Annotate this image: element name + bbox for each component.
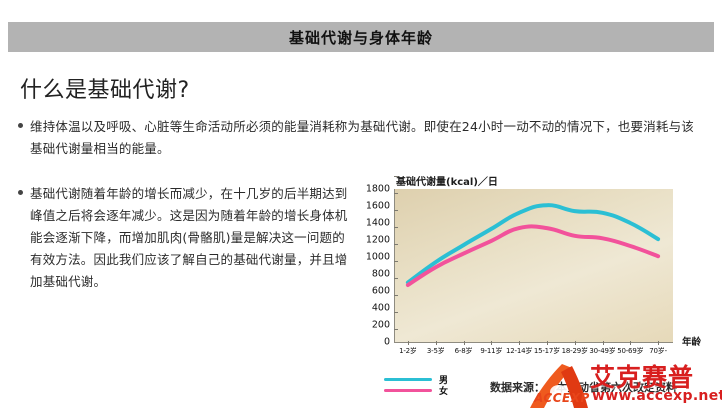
x-tick-mark	[408, 341, 409, 345]
x-tick-mark	[519, 341, 520, 345]
x-tick-mark	[575, 341, 576, 345]
x-tick-mark	[491, 341, 492, 345]
metabolism-chart: 基础代谢量(kcal)／日 02004006008001000120014001…	[352, 170, 722, 413]
y-tick-mark	[394, 227, 398, 228]
x-tick-mark	[547, 341, 548, 345]
x-tick-label: 9-11岁	[480, 346, 502, 356]
legend-swatch	[384, 389, 432, 392]
header-bar: 基础代谢与身体年龄	[8, 22, 714, 52]
legend-label: 女	[439, 384, 448, 397]
bullet-item: 维持体温以及呼吸、心脏等生命活动所必须的能量消耗称为基础代谢。即使在24小时一动…	[18, 116, 708, 160]
x-tick-label: 15-17岁	[534, 346, 560, 356]
y-tick-mark	[394, 261, 398, 262]
y-tick-mark	[394, 295, 398, 296]
x-tick-label: 6-8岁	[455, 346, 473, 356]
y-tick-mark	[394, 329, 398, 330]
legend-swatch	[384, 378, 432, 381]
y-tick-mark	[394, 278, 398, 279]
y-tick-mark	[394, 244, 398, 245]
y-tick-mark	[394, 176, 398, 177]
bullet-dot-icon	[18, 123, 23, 128]
legend-item: 男	[384, 374, 474, 385]
bullet-text: 基础代谢随着年龄的增长而减少，在十几岁的后半期达到峰值之后将会逐年减少。这是因为…	[30, 183, 355, 293]
x-axis: 1-2岁3-5岁6-8岁9-11岁12-14岁15-17岁18-29岁30-49…	[394, 346, 672, 362]
page-title: 基础代谢与身体年龄	[289, 27, 433, 48]
x-axis-title: 年龄	[682, 334, 701, 348]
x-tick-label: 18-29岁	[562, 346, 588, 356]
x-tick-mark	[464, 341, 465, 345]
chart-source-note: 数据来源：日本劳动省第六次改定资料	[490, 379, 677, 395]
x-tick-label: 12-14岁	[506, 346, 532, 356]
y-tick-mark	[394, 193, 398, 194]
x-tick-mark	[630, 341, 631, 345]
x-tick-label: 70岁-	[649, 346, 667, 356]
x-tick-label: 50-69岁	[617, 346, 643, 356]
y-tick-mark	[394, 312, 398, 313]
bullet-text: 维持体温以及呼吸、心脏等生命活动所必须的能量消耗称为基础代谢。即使在24小时一动…	[30, 116, 706, 160]
x-tick-label: 3-5岁	[427, 346, 445, 356]
legend-item: 女	[384, 385, 474, 396]
y-tick-mark	[394, 210, 398, 211]
chart-legend: 男女	[384, 374, 474, 396]
x-tick-mark	[658, 341, 659, 345]
x-tick-label: 30-49岁	[589, 346, 615, 356]
x-tick-label: 1-2岁	[399, 346, 417, 356]
slide-heading: 什么是基础代谢?	[20, 72, 190, 104]
bullet-item: 基础代谢随着年龄的增长而减少，在十几岁的后半期达到峰值之后将会逐年减少。这是因为…	[18, 183, 358, 293]
bullet-dot-icon	[18, 190, 23, 195]
x-tick-mark	[436, 341, 437, 345]
x-tick-mark	[603, 341, 604, 345]
